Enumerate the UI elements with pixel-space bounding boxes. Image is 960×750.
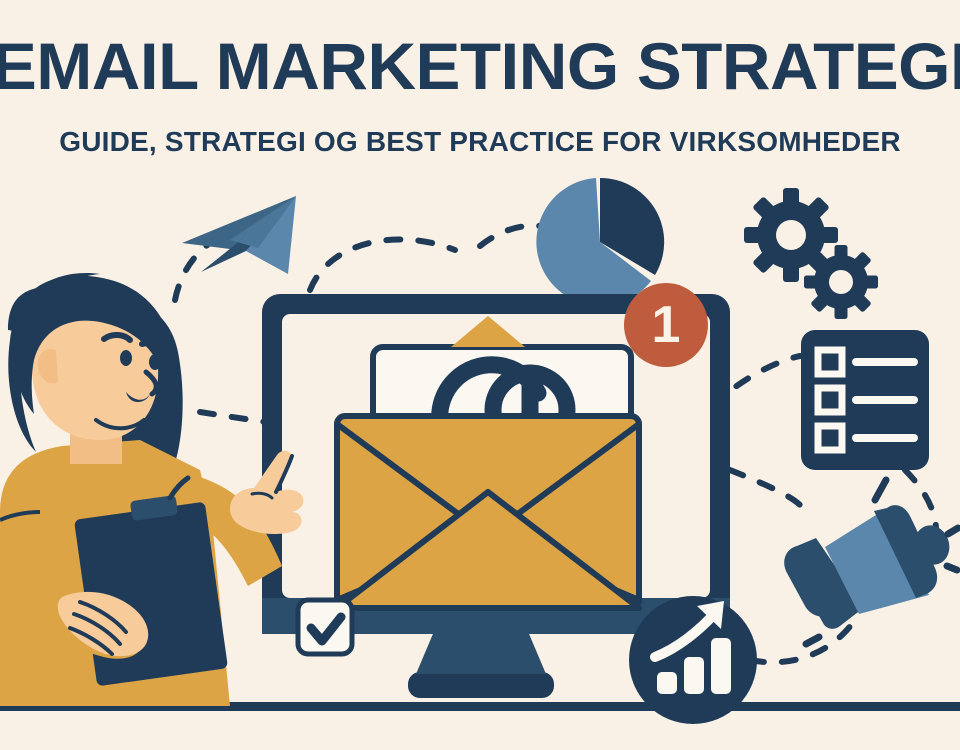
sleeve-left [0,506,44,606]
illustration-banner: EMAIL MARKETING STRATEGI GUIDE, STRATEGI… [0,0,960,750]
illustration-artwork [0,0,960,750]
notification-badge [624,283,708,367]
email-envelope [337,316,639,608]
checkbox-badge [298,600,352,654]
pie-chart [536,178,664,306]
checklist-icon [801,330,929,470]
monitor-base [408,672,554,698]
